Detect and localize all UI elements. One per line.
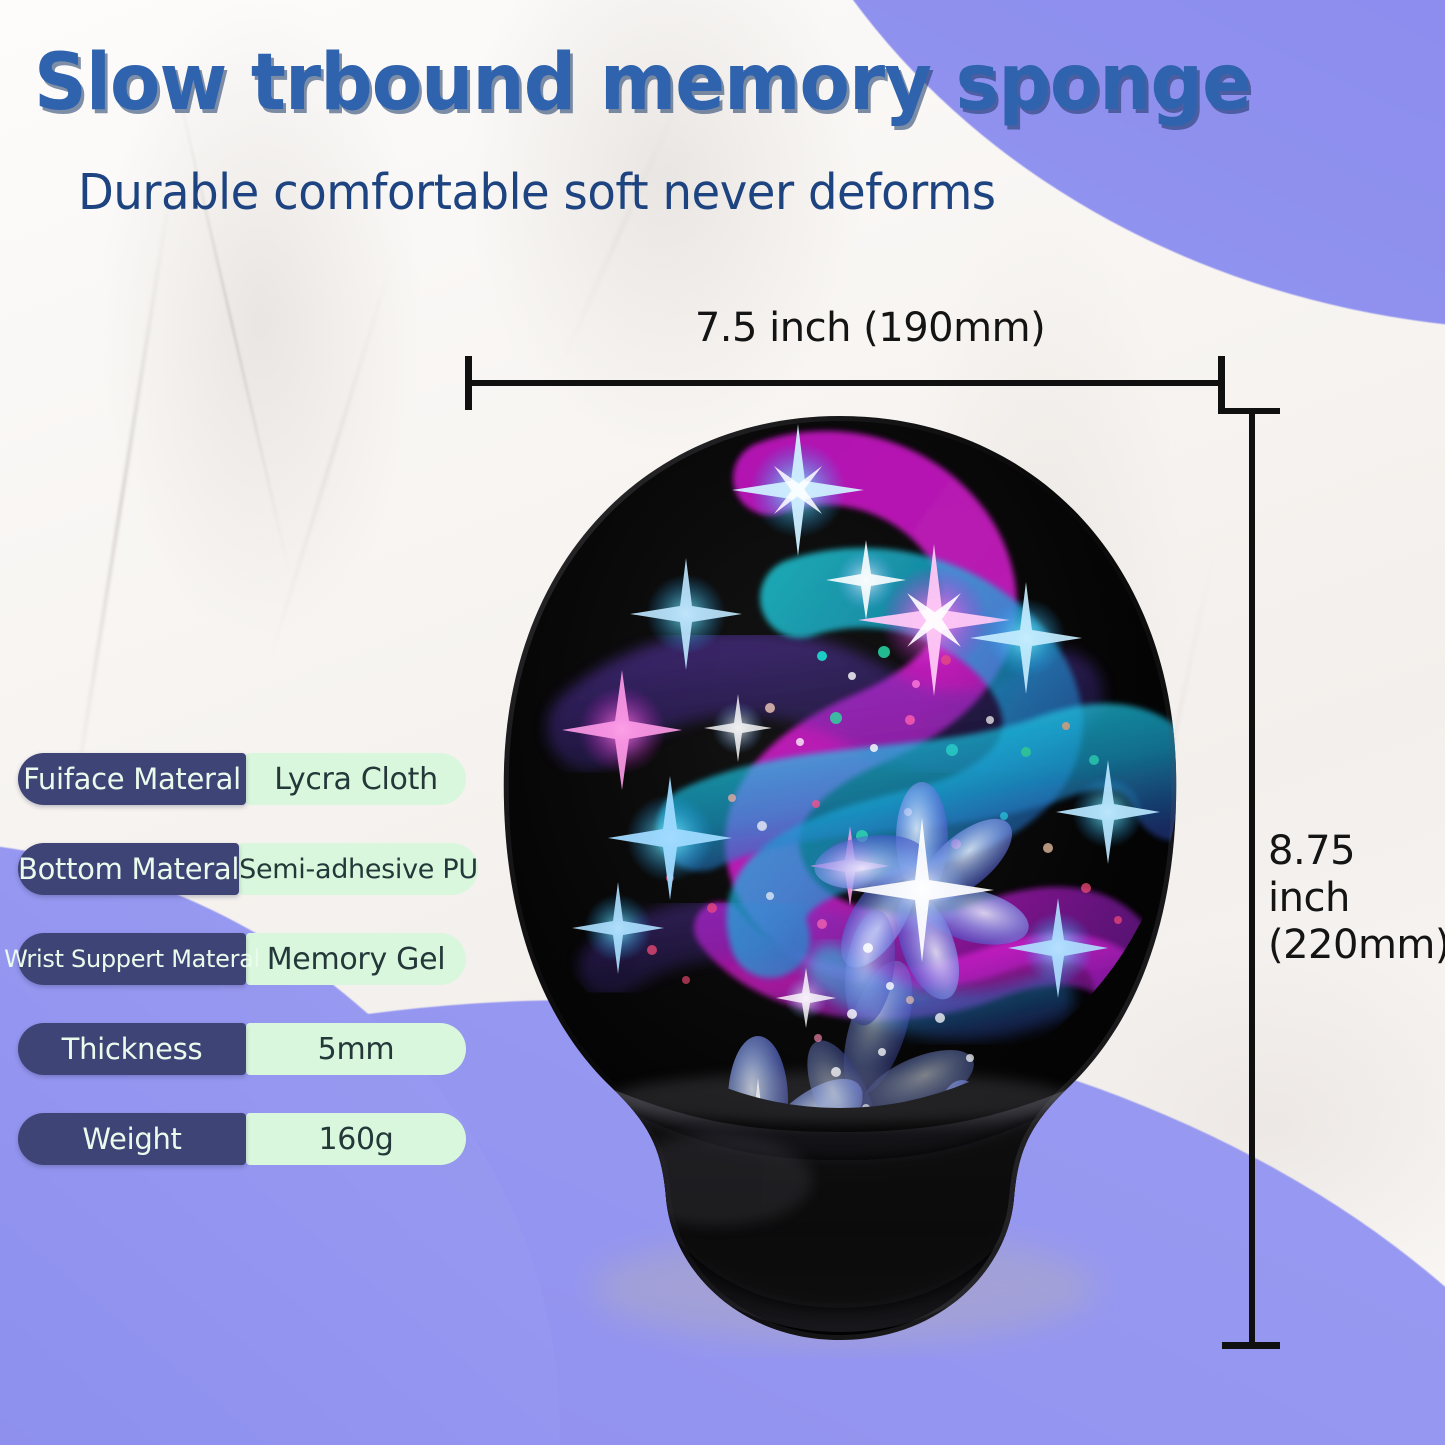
spec-key: Bottom Materal (18, 843, 239, 895)
spec-key: Fuiface Materal (18, 753, 246, 805)
spec-key: Thickness (18, 1023, 246, 1075)
spec-value: Semi-adhesive PU (239, 843, 478, 895)
height-dimension-line (1249, 410, 1255, 1348)
height-dimension-label-line2: (220mm) (1268, 922, 1445, 969)
product-image-mouse-pad (470, 408, 1210, 1358)
page-subtitle: Durable comfortable soft never deforms (78, 168, 1218, 217)
table-row: Thickness 5mm (18, 1023, 466, 1075)
spec-value: Memory Gel (246, 933, 466, 985)
width-dimension-label: 7.5 inch (190mm) (640, 305, 1100, 351)
spec-value: 160g (246, 1113, 466, 1165)
specification-table: Fuiface Materal Lycra Cloth Bottom Mater… (18, 753, 466, 1165)
height-dimension-label-line1: 8.75 inch (1268, 828, 1445, 922)
width-dimension-line (465, 380, 1225, 386)
spec-key: Wrist Suppert Materal (18, 933, 246, 985)
table-row: Wrist Suppert Materal Memory Gel (18, 933, 466, 985)
height-dimension-label: 8.75 inch (220mm) (1268, 828, 1445, 970)
spec-value: 5mm (246, 1023, 466, 1075)
table-row: Fuiface Materal Lycra Cloth (18, 753, 466, 805)
width-dimension-cap-left (465, 356, 472, 410)
spec-key: Weight (18, 1113, 246, 1165)
page-title: Slow trbound memory sponge (34, 44, 1200, 122)
spec-value: Lycra Cloth (246, 753, 466, 805)
infographic-canvas: Slow trbound memory sponge Durable comfo… (0, 0, 1445, 1445)
width-dimension-cap-right (1218, 356, 1225, 414)
table-row: Weight 160g (18, 1113, 466, 1165)
height-dimension-cap-bottom (1222, 1342, 1280, 1349)
table-row: Bottom Materal Semi-adhesive PU (18, 843, 466, 895)
pad-body (470, 408, 1210, 1358)
